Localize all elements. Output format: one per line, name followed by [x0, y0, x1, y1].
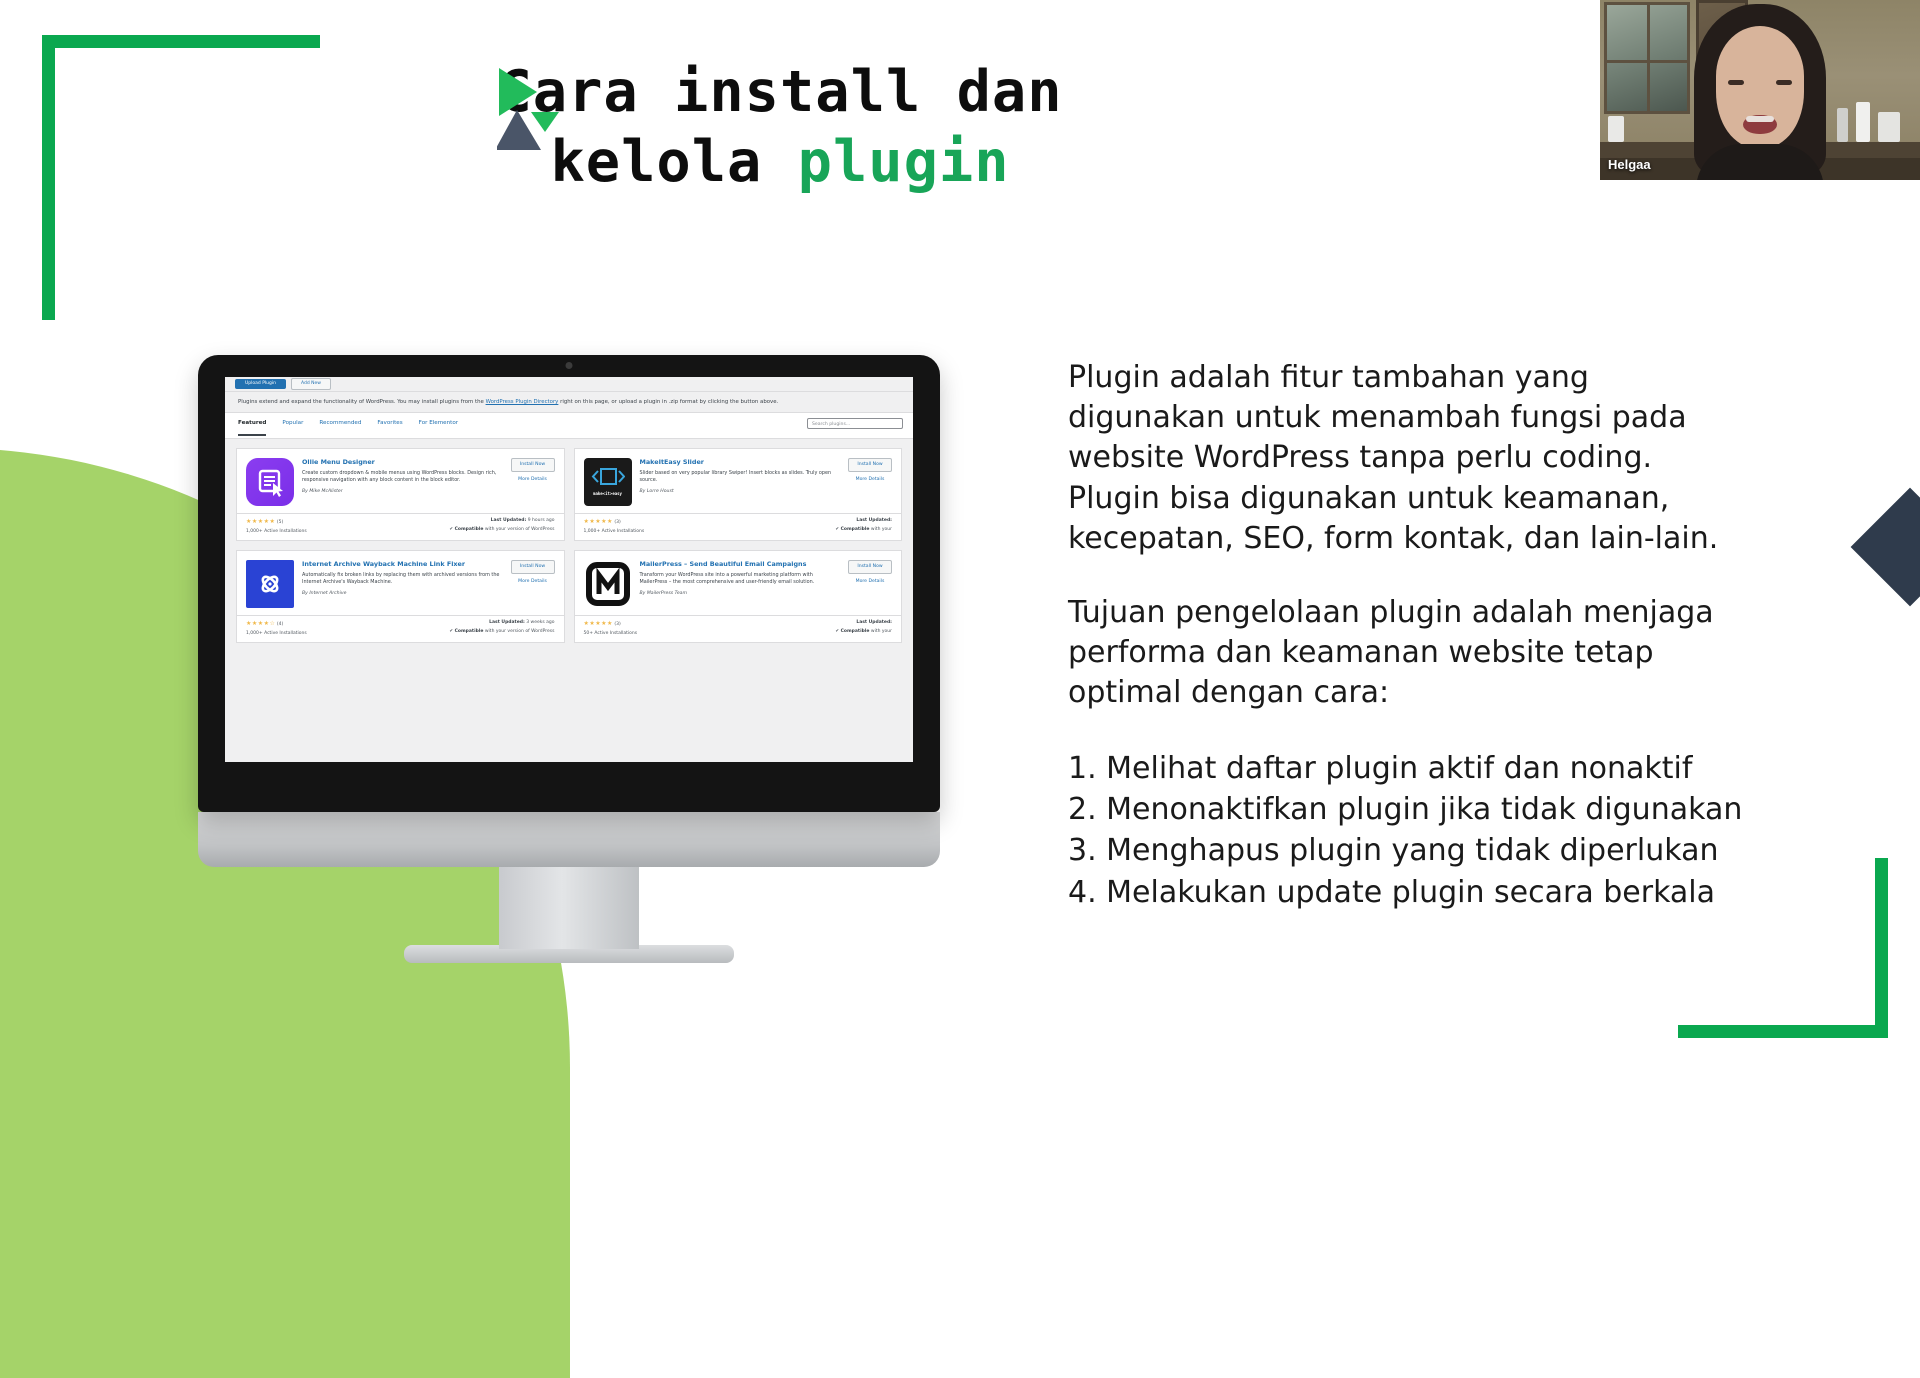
upload-plugin-button[interactable]: Upload Plugin [235, 379, 286, 389]
list-item: 2. Menonaktifkan plugin jika tidak digun… [1068, 789, 1748, 830]
plugin-description: Slider based on very popular library Swi… [640, 470, 841, 484]
plugin-name[interactable]: Ollie Menu Designer [302, 458, 503, 466]
wayback-link-icon [246, 560, 294, 608]
paragraph-definition: Plugin adalah fitur tambahan yang diguna… [1068, 358, 1748, 559]
plugin-meta-block: Last Updated: ✔ Compatible with your [835, 518, 892, 535]
last-updated: Last Updated: [856, 620, 892, 626]
star-rating-icon: ★★★★★ [246, 518, 275, 525]
plugin-author: By Mike McAlister [302, 489, 503, 495]
wp-toolbar: Upload Plugin Add New [225, 377, 913, 392]
webcam-eye-right [1776, 80, 1792, 85]
plugin-search-input[interactable]: Search plugins... [807, 418, 903, 429]
wp-filter-tabs: Featured Popular Recommended Favorites F… [225, 412, 913, 439]
webcam-teeth [1746, 116, 1774, 122]
plugin-rating-block: ★★★★☆ (4) 1,000+ Active Installations [246, 620, 307, 637]
tab-popular[interactable]: Popular [282, 420, 303, 432]
plugin-author: By MailerPress Team [640, 591, 841, 597]
title-line-2-accent: plugin [798, 129, 1010, 195]
compatible-label: Compatible [455, 527, 484, 532]
mailerpress-icon [584, 560, 632, 608]
webcam-window-decor [1604, 2, 1690, 114]
compatible-rest: with your version of WordPress [485, 527, 555, 532]
plugin-meta-block: Last Updated: 3 weeks ago ✔ Compatible w… [449, 620, 554, 637]
wp-desc-suffix: right on this page, or upload a plugin i… [558, 399, 778, 405]
plugin-rating: ★★★★☆ (4) [246, 620, 307, 628]
last-updated-label: Last Updated: [856, 518, 892, 523]
tab-featured[interactable]: Featured [238, 420, 266, 432]
plugin-card[interactable]: Internet Archive Wayback Machine Link Fi… [236, 550, 565, 643]
plugin-card-body: make<it>easy MakeItEasy Slider Slider ba… [575, 449, 902, 513]
active-installations: 1,000+ Active Installations [584, 529, 645, 535]
list-item: 1. Melihat daftar plugin aktif dan nonak… [1068, 748, 1748, 789]
plugin-meta-block: Last Updated: ✔ Compatible with your [835, 620, 892, 637]
last-updated-value: 9 hours ago [528, 518, 555, 523]
monitor-chin [198, 812, 940, 867]
plugin-name[interactable]: Internet Archive Wayback Machine Link Fi… [302, 560, 503, 568]
title-line-2-plain: kelola [550, 129, 797, 195]
list-item: 4. Melakukan update plugin secara berkal… [1068, 872, 1748, 913]
slide-title: Cara install dan kelola plugin [0, 58, 1560, 197]
plugin-rating-block: ★★★★★ (3) 50+ Active Installations [584, 620, 638, 637]
plugin-description: Automatically fix broken links by replac… [302, 572, 503, 586]
play-triangle-logo-icon [497, 62, 559, 152]
plugin-card[interactable]: make<it>easy MakeItEasy Slider Slider ba… [574, 448, 903, 541]
active-installations: 1,000+ Active Installations [246, 529, 307, 535]
plugin-rating-block: ★★★★★ (5) 1,000+ Active Installations [246, 518, 307, 535]
last-updated: Last Updated: 3 weeks ago [489, 620, 554, 626]
last-updated-label: Last Updated: [856, 620, 892, 625]
participant-name-label: Helgaa [1608, 157, 1651, 172]
list-item: 3. Menghapus plugin yang tidak diperluka… [1068, 830, 1748, 871]
install-now-button[interactable]: Install Now [848, 458, 892, 472]
rating-count: (3) [614, 622, 620, 627]
monitor-illustration: Upload Plugin Add New Plugins extend and… [198, 355, 940, 955]
plugin-rating: ★★★★★ (3) [584, 518, 645, 526]
plugin-card-text: MailerPress – Send Beautiful Email Campa… [640, 560, 841, 608]
star-rating-icon: ★★★★★ [584, 620, 613, 627]
plugin-rating: ★★★★★ (3) [584, 620, 638, 628]
numbered-steps-list: 1. Melihat daftar plugin aktif dan nonak… [1068, 748, 1748, 914]
plugin-card-body: Internet Archive Wayback Machine Link Fi… [237, 551, 564, 615]
wp-page-description: Plugins extend and expand the functional… [225, 392, 913, 412]
active-installations: 50+ Active Installations [584, 631, 638, 637]
title-line-1: Cara install dan [0, 58, 1560, 128]
plugin-directory-link[interactable]: WordPress Plugin Directory [486, 399, 559, 405]
plugin-card-text: MakeItEasy Slider Slider based on very p… [640, 458, 841, 506]
webcam-person-face [1716, 26, 1804, 148]
last-updated-value: 3 weeks ago [526, 620, 554, 625]
last-updated-label: Last Updated: [491, 518, 527, 523]
monitor-bezel: Upload Plugin Add New Plugins extend and… [198, 355, 940, 812]
plugin-card-actions: Install Now More Details [511, 560, 555, 608]
plugin-description: Transform your WordPress site into a pow… [640, 572, 841, 586]
compatibility: ✔ Compatible with your version of WordPr… [449, 527, 554, 533]
slider-icon-text: make<it>easy [593, 491, 622, 496]
plugin-author: By Internet Archive [302, 591, 503, 597]
rating-count: (4) [277, 622, 283, 627]
plugin-author: By Lorre Houst [640, 489, 841, 495]
plugin-name[interactable]: MakeItEasy Slider [640, 458, 841, 466]
plugin-card-footer: ★★★★★ (3) 50+ Active Installations Last … [575, 615, 902, 642]
plugin-card-actions: Install Now More Details [848, 560, 892, 608]
plugin-card-text: Ollie Menu Designer Create custom dropdo… [302, 458, 503, 506]
title-line-2: kelola plugin [0, 128, 1560, 198]
install-now-button[interactable]: Install Now [511, 458, 555, 472]
rating-count: (5) [277, 520, 283, 525]
webcam-object-decor [1837, 108, 1848, 142]
wordpress-plugins-page: Upload Plugin Add New Plugins extend and… [225, 377, 913, 762]
webcam-object-decor [1878, 112, 1900, 142]
plugin-card-footer: ★★★★☆ (4) 1,000+ Active Installations La… [237, 615, 564, 642]
plugin-card-footer: ★★★★★ (3) 1,000+ Active Installations La… [575, 513, 902, 540]
plugin-name[interactable]: MailerPress – Send Beautiful Email Campa… [640, 560, 841, 568]
compatible-rest: with your [871, 629, 892, 634]
wp-desc-prefix: Plugins extend and expand the functional… [238, 399, 486, 405]
active-installations: 1,000+ Active Installations [246, 631, 307, 637]
webcam-eye-left [1728, 80, 1744, 85]
more-details-link[interactable]: More Details [511, 477, 555, 483]
compatible-label: Compatible [841, 629, 870, 634]
compatible-label: Compatible [455, 629, 484, 634]
plugin-card[interactable]: MailerPress – Send Beautiful Email Campa… [574, 550, 903, 643]
compatible-label: Compatible [841, 527, 870, 532]
plugin-card[interactable]: Ollie Menu Designer Create custom dropdo… [236, 448, 565, 541]
ollie-menu-icon [246, 458, 294, 506]
compatibility: ✔ Compatible with your [835, 527, 892, 533]
plugin-card-actions: Install Now More Details [848, 458, 892, 506]
tab-favorites[interactable]: Favorites [377, 420, 402, 432]
compatible-rest: with your version of WordPress [485, 629, 555, 634]
monitor-screen: Upload Plugin Add New Plugins extend and… [225, 377, 913, 762]
add-new-button[interactable]: Add New [291, 378, 331, 390]
monitor-webcam-dot [566, 362, 573, 369]
plugin-card-body: Ollie Menu Designer Create custom dropdo… [237, 449, 564, 513]
makeiteasy-slider-icon: make<it>easy [584, 458, 632, 506]
star-rating-icon: ★★★★★ [584, 518, 613, 525]
plugin-description: Create custom dropdown & mobile menus us… [302, 470, 503, 484]
tab-recommended[interactable]: Recommended [319, 420, 361, 432]
plugin-rating-block: ★★★★★ (3) 1,000+ Active Installations [584, 518, 645, 535]
plugin-card-grid: Ollie Menu Designer Create custom dropdo… [225, 439, 913, 652]
more-details-link[interactable]: More Details [848, 477, 892, 483]
more-details-link[interactable]: More Details [848, 579, 892, 585]
install-now-button[interactable]: Install Now [848, 560, 892, 574]
compatibility: ✔ Compatible with your [835, 629, 892, 635]
plugin-card-footer: ★★★★★ (5) 1,000+ Active Installations La… [237, 513, 564, 540]
plugin-card-text: Internet Archive Wayback Machine Link Fi… [302, 560, 503, 608]
last-updated: Last Updated: 9 hours ago [491, 518, 555, 524]
compatible-rest: with your [871, 527, 892, 532]
plugin-rating: ★★★★★ (5) [246, 518, 307, 526]
paragraph-purpose: Tujuan pengelolaan plugin adalah menjaga… [1068, 593, 1748, 714]
install-now-button[interactable]: Install Now [511, 560, 555, 574]
tab-for-elementor[interactable]: For Elementor [419, 420, 458, 432]
compatibility: ✔ Compatible with your version of WordPr… [449, 629, 554, 635]
diamond-decoration [1851, 488, 1920, 607]
plugin-card-actions: Install Now More Details [511, 458, 555, 506]
more-details-link[interactable]: More Details [511, 579, 555, 585]
plugin-card-body: MailerPress – Send Beautiful Email Campa… [575, 551, 902, 615]
last-updated: Last Updated: [856, 518, 892, 524]
slide-body-content: Plugin adalah fitur tambahan yang diguna… [1068, 358, 1748, 913]
webcam-video-tile[interactable]: Helgaa [1600, 0, 1920, 180]
webcam-object-decor [1856, 102, 1870, 142]
monitor-stand [499, 867, 639, 949]
rating-count: (3) [614, 520, 620, 525]
last-updated-label: Last Updated: [489, 620, 525, 625]
plugin-meta-block: Last Updated: 9 hours ago ✔ Compatible w… [449, 518, 554, 535]
star-rating-icon: ★★★★☆ [246, 620, 275, 627]
webcam-object-decor [1608, 116, 1624, 142]
